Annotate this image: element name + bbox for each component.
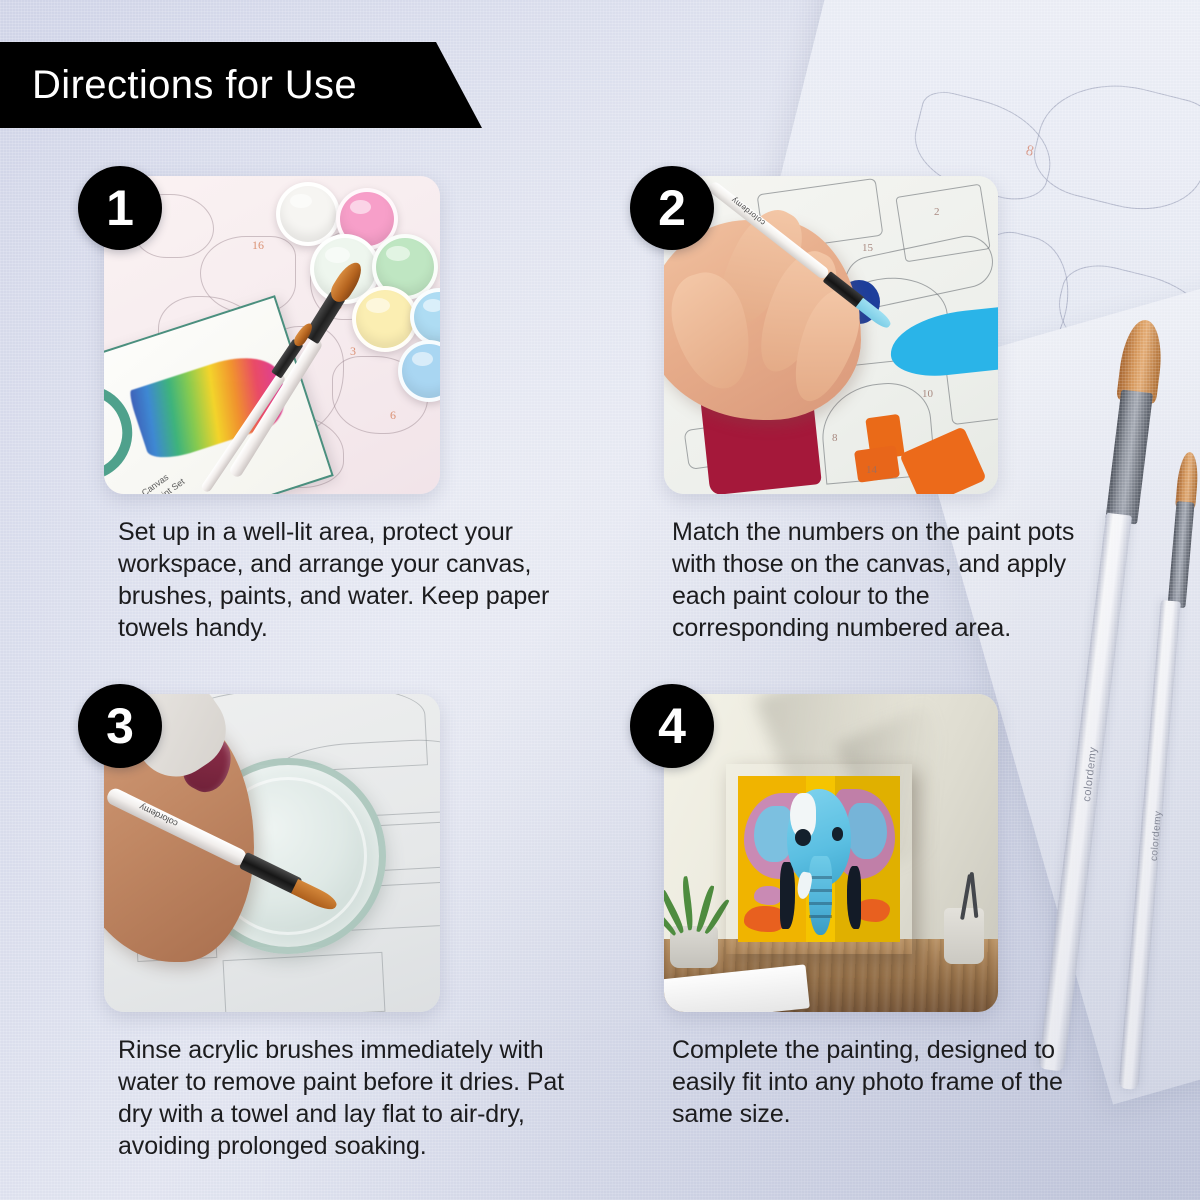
elephant-trunk — [809, 856, 832, 936]
elephant-eye-left — [795, 829, 811, 846]
step-badge-1: 1 — [78, 166, 162, 250]
canvas-number: 16 — [252, 238, 264, 253]
elephant-eye-right — [832, 827, 843, 840]
step-number-1: 1 — [106, 183, 134, 233]
steps-grid: 1 16 5 4 3 7 8 6 1 — [0, 0, 1200, 1200]
paint-pot — [352, 286, 418, 352]
canvas-number: 10 — [922, 388, 933, 400]
plant-pot — [670, 926, 718, 968]
canvas-number: 6 — [390, 408, 396, 423]
step-number-3: 3 — [106, 701, 134, 751]
step-image-4 — [664, 694, 998, 1012]
step-card-1: 1 16 5 4 3 7 8 6 1 — [104, 176, 574, 644]
step-caption-2: Match the numbers on the paint pots with… — [664, 516, 1076, 644]
infographic-page: 8 colordemy colordemy Directions for Use… — [0, 0, 1200, 1200]
canvas-number: 2 — [934, 206, 940, 218]
canvas-number: 8 — [832, 432, 838, 444]
step-image-2: 2 15 10 14 8 colordemy — [664, 176, 998, 494]
step-caption-4: Complete the painting, designed to easil… — [664, 1034, 1076, 1130]
step-card-4: 4 — [664, 694, 1084, 1130]
step-badge-4: 4 — [630, 684, 714, 768]
canvas-number: 14 — [866, 464, 877, 476]
canvas-number: 15 — [862, 242, 873, 254]
painted-area-orange-2 — [854, 445, 900, 483]
canvas-number: 3 — [350, 344, 356, 359]
step-number-4: 4 — [658, 701, 686, 751]
step-caption-1: Set up in a well-lit area, protect your … — [104, 516, 574, 644]
swatch-card-text: Linen Canvas Acrylic Paint Set Brush Set — [119, 465, 195, 494]
step-number-2: 2 — [658, 183, 686, 233]
elephant-painting — [738, 776, 900, 942]
step-card-2: 2 2 15 10 — [664, 176, 1084, 644]
paint-splatter — [754, 886, 783, 906]
wooden-picture-frame — [726, 764, 912, 954]
step-card-3: 3 colordemy — [104, 694, 574, 1162]
step-badge-2: 2 — [630, 166, 714, 250]
step-badge-3: 3 — [78, 684, 162, 768]
step-caption-3: Rinse acrylic brushes immediately with w… — [104, 1034, 574, 1162]
